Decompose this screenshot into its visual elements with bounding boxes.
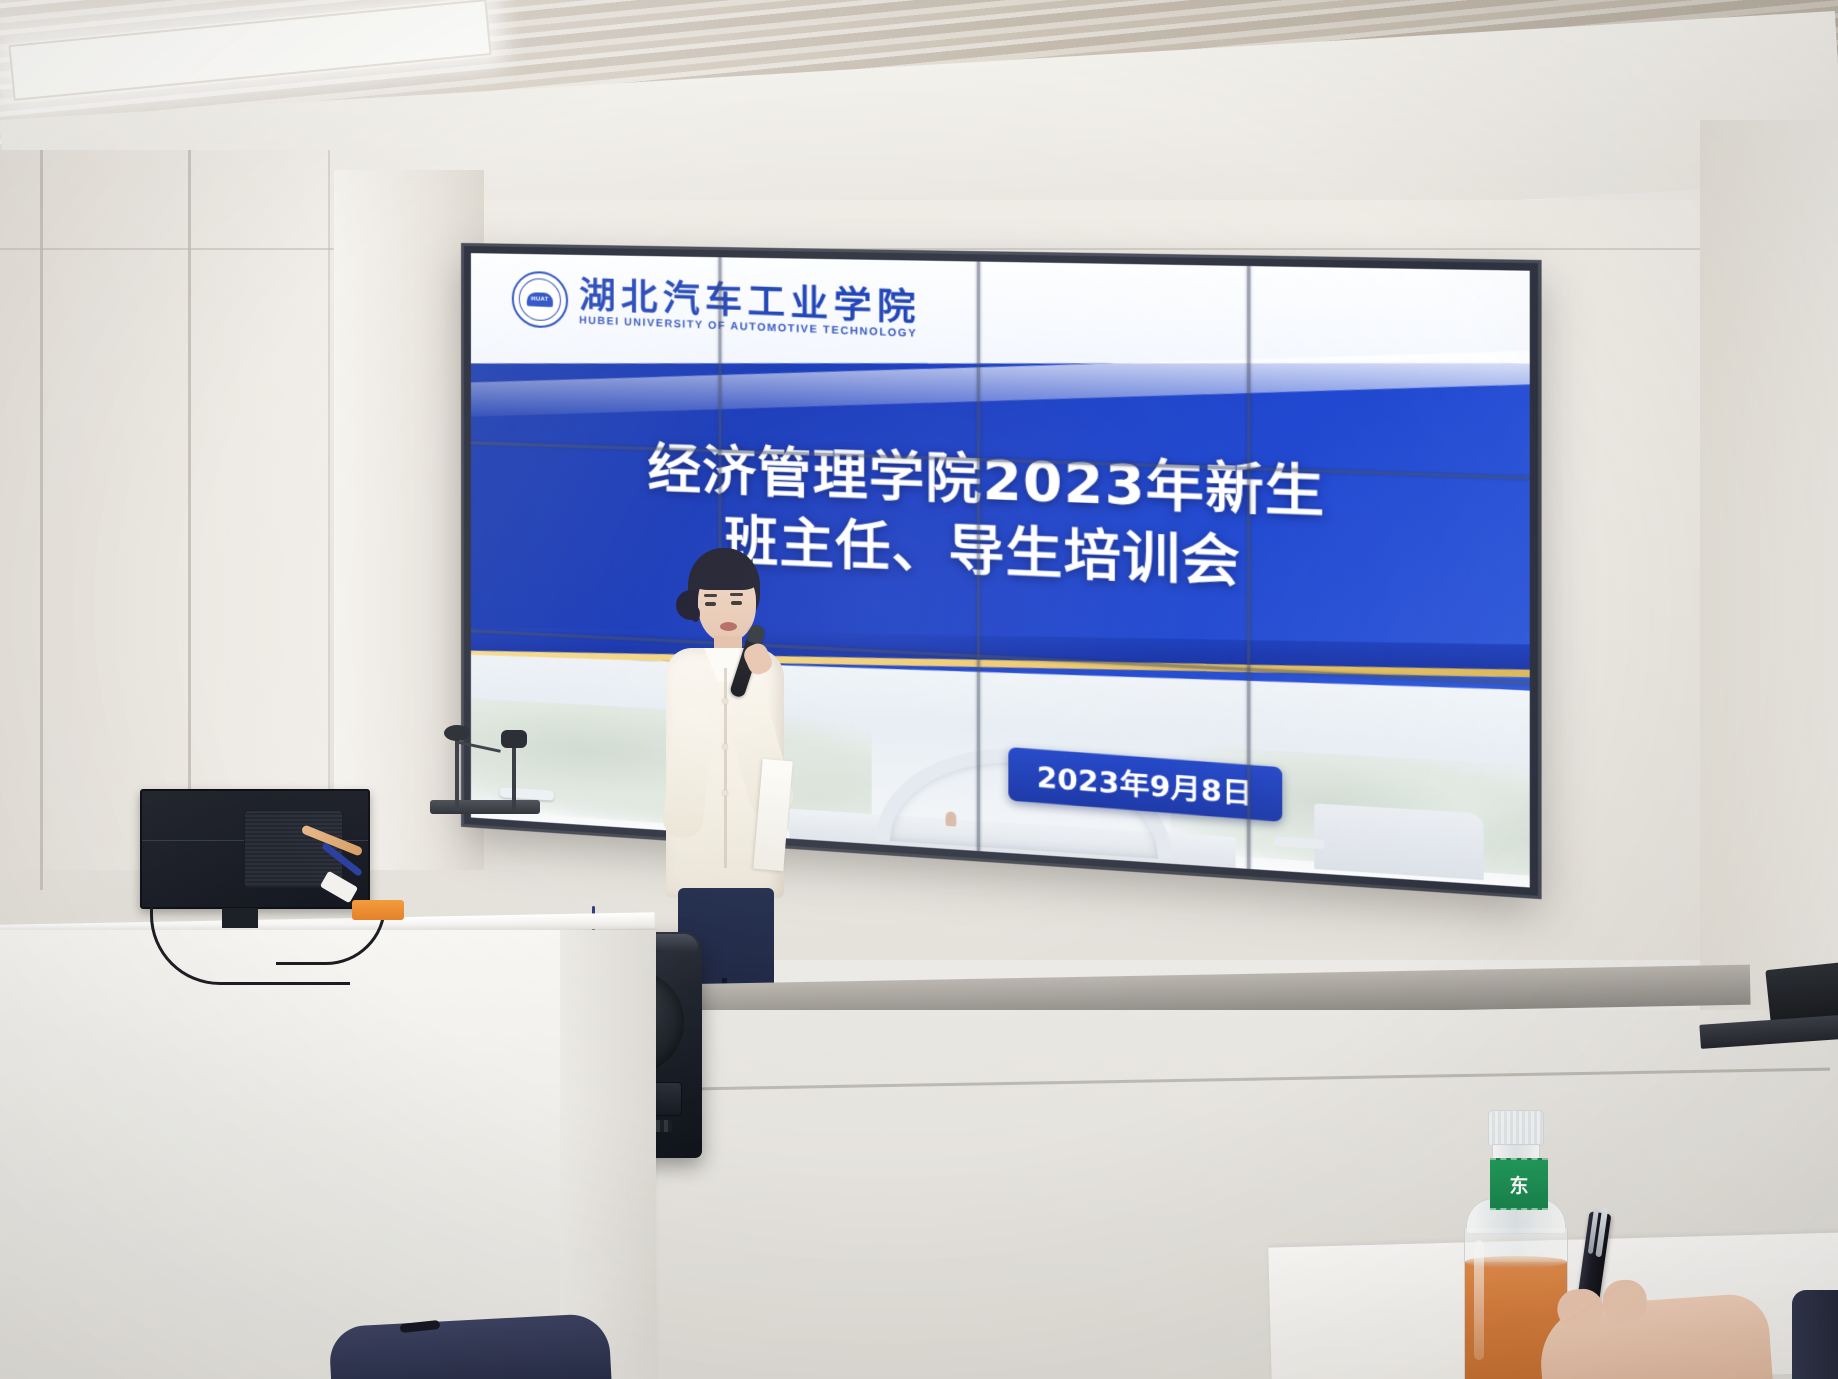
wall-seam [0, 248, 1838, 250]
presenter-brow [730, 593, 743, 596]
presenter-button [722, 790, 728, 796]
wall-left-panel [0, 150, 330, 870]
bottle-highlight [1474, 1240, 1484, 1360]
microphone-capsule [501, 730, 527, 748]
finger [1601, 1279, 1648, 1326]
presenter-brow [704, 594, 717, 597]
video-wall-display[interactable]: HUAT 湖北汽车工业学院 HUBEI UNIVERSITY OF AUTOMO… [464, 246, 1538, 896]
gooseneck-microphone-left[interactable] [455, 733, 459, 811]
seal-acronym: HUAT [531, 296, 549, 303]
university-name-group: 湖北汽车工业学院 HUBEI UNIVERSITY OF AUTOMOTIVE … [579, 276, 921, 339]
microphone-capsule [444, 725, 470, 741]
presenter-eye [731, 601, 742, 605]
seal-car-shape: HUAT [527, 292, 553, 307]
photo-scene: HUAT 湖北汽车工业学院 HUBEI UNIVERSITY OF AUTOMO… [0, 0, 1838, 1379]
bottle-label: 东 [1490, 1158, 1548, 1210]
orange-desk-object [352, 900, 404, 920]
presenter-mouth [720, 622, 737, 631]
wall-seam [40, 150, 43, 890]
presenter-fringe [694, 562, 756, 590]
university-seal-icon: HUAT [512, 270, 568, 329]
presenter-earring [691, 606, 700, 622]
photo-building [1314, 803, 1484, 880]
video-wall-screen: HUAT 湖北汽车工业学院 HUBEI UNIVERSITY OF AUTOMO… [471, 253, 1530, 887]
gooseneck-microphone-right[interactable] [512, 740, 516, 812]
wall-pillar [334, 170, 484, 870]
wall-right [1700, 120, 1838, 1020]
chair-back [1792, 1290, 1838, 1379]
bottle-cap [1488, 1110, 1544, 1146]
lectern-side-panel [560, 930, 656, 1379]
photo-pedestrian [945, 811, 957, 827]
wall-seam [188, 150, 191, 890]
presenter-button [722, 744, 728, 750]
presenter-eye [705, 602, 716, 606]
viewer-hand [1537, 1292, 1773, 1379]
presenter-desk [0, 930, 655, 1379]
presenter-button [722, 698, 728, 704]
finger [1556, 1288, 1605, 1331]
microphone-base [430, 800, 540, 814]
